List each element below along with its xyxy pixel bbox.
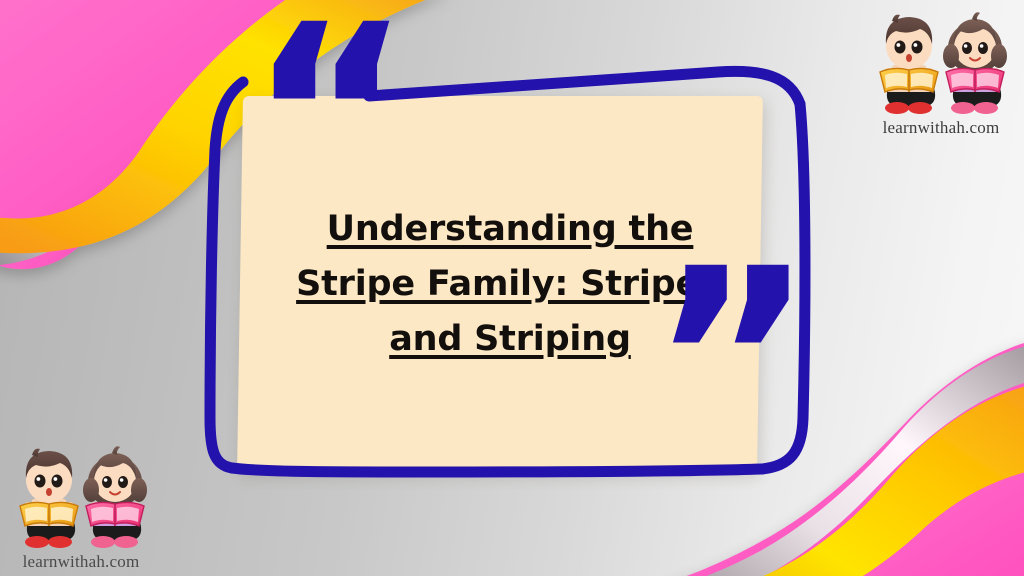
kids-reading-icon: [6, 438, 156, 556]
brand-name-top-right: learnwithah.com: [866, 118, 1016, 138]
brand-name-bottom-left: learnwithah.com: [6, 552, 156, 572]
brand-logo-bottom-left: learnwithah.com: [6, 438, 156, 572]
girl-figure: [83, 446, 147, 548]
boy-figure: [20, 449, 78, 548]
girl-figure: [943, 12, 1007, 114]
open-quote-icon: “: [248, 0, 406, 242]
close-quote-icon: ”: [650, 236, 808, 486]
kids-reading-icon: [866, 4, 1016, 122]
brand-logo-top-right: learnwithah.com: [866, 4, 1016, 138]
poster-canvas: “ ” Understanding the Stripe Family: Str…: [0, 0, 1024, 576]
boy-figure: [880, 15, 938, 114]
